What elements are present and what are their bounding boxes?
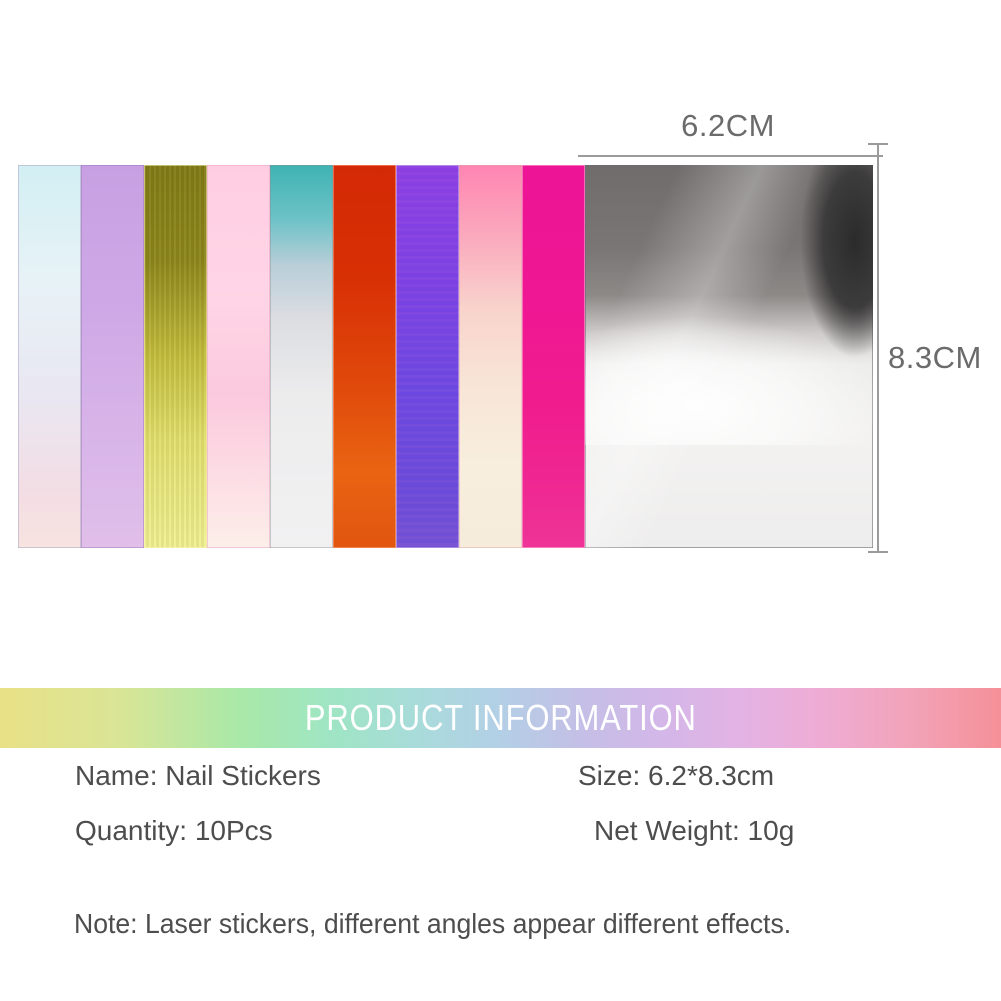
flame-outline-icon	[81, 165, 144, 548]
spec-size: Size: 6.2*8.3cm	[578, 760, 774, 792]
large-silver-sticker-sheet	[585, 165, 873, 548]
sticker-strip-teal-silver	[270, 165, 333, 548]
flame-outline-icon	[333, 165, 396, 548]
flame-outline-icon	[144, 165, 207, 548]
height-dimension-label: 8.3CM	[888, 340, 982, 376]
spec-row: Name: Nail Stickers Size: 6.2*8.3cm	[0, 760, 1001, 815]
width-dimension-line	[578, 155, 883, 157]
flame-outline-icon	[459, 165, 522, 548]
product-information-banner: PRODUCT INFORMATION	[0, 688, 1001, 748]
flame-outline-icon	[270, 165, 333, 548]
flame-outline-icon	[522, 165, 585, 548]
spec-note: Note: Laser stickers, different angles a…	[74, 908, 791, 940]
sticker-strip-red-orange	[333, 165, 396, 548]
flame-outline-icon	[18, 165, 81, 548]
height-dimension-line	[877, 143, 879, 553]
spec-row: Quantity: 10Pcs Net Weight: 10g	[0, 815, 1001, 870]
spec-name: Name: Nail Stickers	[75, 760, 321, 792]
sticker-strip-gold	[144, 165, 207, 548]
product-photo: 6.2CM 8.3CM	[0, 0, 1001, 670]
width-dimension-label: 6.2CM	[578, 108, 878, 144]
banner-title: PRODUCT INFORMATION	[305, 697, 697, 739]
sticker-strip-magenta	[522, 165, 585, 548]
sticker-strip-iridescent-pale-blue	[18, 165, 81, 548]
sticker-sheet-strips	[18, 165, 585, 548]
flame-outline-icon	[207, 165, 270, 548]
sticker-strip-pink	[207, 165, 270, 548]
product-specifications: Name: Nail Stickers Size: 6.2*8.3cm Quan…	[0, 760, 1001, 870]
spec-net-weight: Net Weight: 10g	[594, 815, 794, 847]
height-dimension-cap-bottom	[868, 551, 888, 553]
sheet-sheen	[585, 165, 873, 548]
sticker-strip-hot-pink-cream	[459, 165, 522, 548]
spec-quantity: Quantity: 10Pcs	[75, 815, 273, 847]
sticker-strip-lilac-purple	[81, 165, 144, 548]
sticker-strip-violet-purple	[396, 165, 459, 548]
flame-outline-icon	[396, 165, 459, 548]
